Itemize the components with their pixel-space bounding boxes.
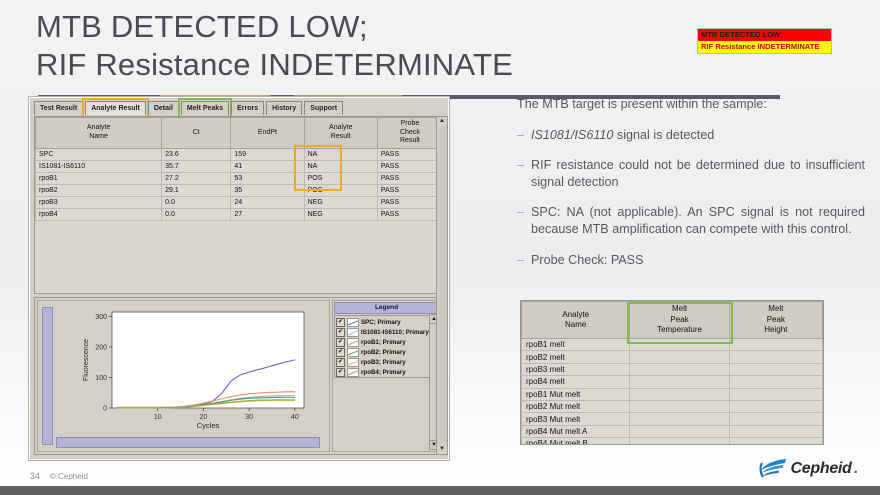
cell-probe-check: PASS	[377, 209, 442, 221]
result-badge: MTB DETECTED LOW; RIF Resistance INDETER…	[697, 28, 832, 54]
bullet-text: SPC: NA (not applicable). An SPC signal …	[531, 204, 865, 237]
list-item[interactable]: ✔ rpoB4; Primary	[336, 367, 438, 377]
tab-test-result-label: Test Result	[40, 105, 77, 112]
melt-peaks-table[interactable]: AnalyteName MeltPeakTemperature MeltPeak…	[520, 300, 824, 445]
analyte-table-header-row: AnalyteName Ct EndPt AnalyteResult Probe…	[36, 118, 443, 149]
legend-color-swatch-icon	[347, 338, 359, 347]
cell-ct: 29.1	[162, 185, 231, 197]
tab-detail-label: Detail	[154, 105, 173, 112]
cell-melt-temp	[630, 339, 729, 351]
bullet-item-is-signal: – IS1081/IS6110 signal is detected	[517, 127, 865, 144]
cell-melt-temp	[630, 413, 729, 425]
legend-checkbox-icon[interactable]: ✔	[336, 338, 345, 347]
cell-melt-temp	[630, 438, 729, 445]
col-header-melt-analyte-name: AnalyteName	[522, 302, 630, 339]
chart-horizontal-scrollbar[interactable]	[56, 437, 320, 448]
tab-errors[interactable]: Errors	[231, 101, 264, 115]
badge-line-mtb: MTB DETECTED LOW;	[698, 29, 831, 41]
page-title: MTB DETECTED LOW; RIF Resistance INDETER…	[36, 8, 596, 84]
cell-analyte-name: SPC	[36, 149, 162, 161]
bullet-italic-term: IS1081/IS6110	[531, 128, 613, 142]
bullet-rest: signal is detected	[613, 128, 714, 142]
table-row[interactable]: rpoB1 melt	[522, 339, 823, 351]
cell-melt-name: rpoB4 Mut melt B	[522, 438, 630, 445]
tab-test-result[interactable]: Test Result	[34, 101, 83, 115]
legend-item-label: rpoB2; Primary	[361, 349, 406, 356]
cell-probe-check: PASS	[377, 173, 442, 185]
slide-canvas: MTB DETECTED LOW; RIF Resistance INDETER…	[0, 0, 880, 495]
cepheid-logo-dot: .	[854, 460, 858, 478]
legend-title: Legend	[334, 302, 439, 314]
bullet-text: IS1081/IS6110 signal is detected	[531, 127, 865, 144]
table-row[interactable]: rpoB3 0.0 24 NEG PASS	[36, 197, 443, 209]
legend-list: ✔ SPC; Primary ✔ IS1081-IS6110; Primary …	[334, 315, 439, 378]
tab-support[interactable]: Support	[304, 101, 343, 115]
cell-melt-name: rpoB1 Mut melt	[522, 388, 630, 400]
table-row[interactable]: rpoB1 Mut melt	[522, 388, 823, 400]
col-header-probe-check: ProbeCheckResult	[377, 118, 442, 149]
cepheid-logo-text: Cepheid	[791, 460, 852, 478]
scroll-down-icon[interactable]: ▼	[437, 445, 447, 454]
tab-support-label: Support	[310, 105, 337, 112]
legend-checkbox-icon[interactable]: ✔	[336, 328, 345, 337]
col-header-analyte-name: AnalyteName	[36, 118, 162, 149]
bullet-dash-icon: –	[517, 127, 524, 144]
svg-text:Fluorescence: Fluorescence	[83, 339, 90, 381]
table-row[interactable]: rpoB2 melt	[522, 351, 823, 363]
col-header-endpt: EndPt	[231, 118, 304, 149]
table-row[interactable]: rpoB4 melt	[522, 376, 823, 388]
table-row[interactable]: rpoB2 Mut melt	[522, 400, 823, 412]
cell-endpt: 53	[231, 173, 304, 185]
bullet-text: RIF resistance could not be determined d…	[531, 157, 865, 190]
melt-table-header-row: AnalyteName MeltPeakTemperature MeltPeak…	[522, 302, 823, 339]
cell-analyte-name: IS1081-IS6110	[36, 161, 162, 173]
bullet-item-spc: – SPC: NA (not applicable). An SPC signa…	[517, 204, 865, 237]
svg-text:20: 20	[200, 414, 208, 421]
cell-melt-temp	[630, 400, 729, 412]
cell-melt-name: rpoB2 melt	[522, 351, 630, 363]
cell-melt-height	[729, 438, 822, 445]
cell-melt-name: rpoB1 melt	[522, 339, 630, 351]
cell-endpt: 24	[231, 197, 304, 209]
title-line-2: RIF Resistance INDETERMINATE	[36, 46, 596, 84]
cell-melt-height	[729, 400, 822, 412]
svg-text:10: 10	[154, 414, 162, 421]
bullet-text: Probe Check: PASS	[531, 252, 865, 269]
cell-ct: 0.0	[162, 197, 231, 209]
tab-history[interactable]: History	[266, 101, 302, 115]
bullet-dash-icon: –	[517, 157, 524, 190]
cell-melt-temp	[630, 425, 729, 437]
cell-analyte-result: POS	[304, 173, 377, 185]
svg-text:40: 40	[291, 414, 299, 421]
col-header-melt-peak-temperature: MeltPeakTemperature	[630, 302, 729, 339]
legend-color-swatch-icon	[347, 318, 359, 327]
legend-checkbox-icon[interactable]: ✔	[336, 358, 345, 367]
cell-melt-height	[729, 388, 822, 400]
lead-paragraph: The MTB target is present within the sam…	[517, 96, 865, 113]
cell-probe-check: PASS	[377, 197, 442, 209]
badge-line-rif: RIF Resistance INDETERMINATE	[698, 41, 831, 53]
cell-melt-temp	[630, 363, 729, 375]
explanation-text: The MTB target is present within the sam…	[517, 96, 865, 282]
cell-analyte-result: NEG	[304, 197, 377, 209]
cell-probe-check: PASS	[377, 161, 442, 173]
cell-analyte-name: rpoB3	[36, 197, 162, 209]
chart-vertical-scrollbar[interactable]	[42, 307, 53, 445]
plot-svg: 010020030010203040CyclesFluorescence	[78, 308, 310, 430]
col-header-ct: Ct	[162, 118, 231, 149]
legend-item-label: SPC; Primary	[361, 319, 401, 326]
table-row[interactable]: rpoB1 27.2 53 POS PASS	[36, 173, 443, 185]
cell-endpt: 35	[231, 185, 304, 197]
cell-analyte-name: rpoB1	[36, 173, 162, 185]
cell-ct: 23.6	[162, 149, 231, 161]
table-row[interactable]: rpoB4 0.0 27 NEG PASS	[36, 209, 443, 221]
legend-item-label: rpoB3; Primary	[361, 359, 406, 366]
legend-item-label: IS1081-IS6110; Primary	[361, 329, 429, 336]
cell-melt-name: rpoB4 melt	[522, 376, 630, 388]
table-row[interactable]: rpoB4 Mut melt A	[522, 425, 823, 437]
tab-history-label: History	[272, 105, 296, 112]
list-item[interactable]: ✔ rpoB2; Primary	[336, 347, 438, 357]
tab-analyte-result[interactable]: Analyte Result	[85, 101, 146, 115]
tab-melt-peaks[interactable]: Melt Peaks	[181, 101, 229, 115]
tab-analyte-result-label: Analyte Result	[91, 105, 140, 112]
cell-endpt: 41	[231, 161, 304, 173]
cell-melt-height	[729, 413, 822, 425]
table-row[interactable]: IS1081-IS6110 35.7 41 NA PASS	[36, 161, 443, 173]
legend-color-swatch-icon	[347, 368, 359, 377]
chart-pane: 010020030010203040CyclesFluorescence	[37, 300, 330, 452]
cell-melt-temp	[630, 376, 729, 388]
legend-checkbox-icon[interactable]: ✔	[336, 368, 345, 377]
scroll-up-icon[interactable]: ▲	[437, 117, 447, 126]
svg-text:100: 100	[95, 375, 107, 382]
cell-analyte-name: rpoB2	[36, 185, 162, 197]
cell-melt-height	[729, 351, 822, 363]
col-header-melt-peak-height: MeltPeakHeight	[729, 302, 822, 339]
cell-melt-name: rpoB4 Mut melt A	[522, 425, 630, 437]
cell-endpt: 159	[231, 149, 304, 161]
legend-item-label: rpoB1; Primary	[361, 339, 406, 346]
cell-ct: 27.2	[162, 173, 231, 185]
svg-text:Cycles: Cycles	[197, 421, 220, 430]
bullet-item-rif-resistance: – RIF resistance could not be determined…	[517, 157, 865, 190]
cell-melt-height	[729, 425, 822, 437]
list-item[interactable]: ✔ rpoB3; Primary	[336, 357, 438, 367]
cell-melt-name: rpoB3 Mut melt	[522, 413, 630, 425]
legend-checkbox-icon[interactable]: ✔	[336, 348, 345, 357]
bullet-item-probe-check: – Probe Check: PASS	[517, 252, 865, 269]
list-item[interactable]: ✔ rpoB1; Primary	[336, 337, 438, 347]
legend-color-swatch-icon	[347, 358, 359, 367]
amplification-chart-panel: 010020030010203040CyclesFluorescence Leg…	[34, 297, 444, 455]
bullet-dash-icon: –	[517, 204, 524, 237]
col-header-analyte-result: AnalyteResult	[304, 118, 377, 149]
cell-melt-temp	[630, 351, 729, 363]
tab-bar: Test Result Analyte Result Detail Melt P…	[34, 101, 343, 115]
table-row[interactable]: SPC 23.6 159 NA PASS	[36, 149, 443, 161]
legend-checkbox-icon[interactable]: ✔	[336, 318, 345, 327]
cell-melt-height	[729, 376, 822, 388]
cell-probe-check: PASS	[377, 185, 442, 197]
cell-analyte-name: rpoB4	[36, 209, 162, 221]
svg-text:0: 0	[103, 406, 107, 413]
cell-analyte-result: POS	[304, 185, 377, 197]
cell-melt-temp	[630, 388, 729, 400]
window-vertical-scrollbar[interactable]: ▲ ▼	[436, 116, 448, 455]
cell-probe-check: PASS	[377, 149, 442, 161]
amplification-plot: 010020030010203040CyclesFluorescence	[78, 308, 310, 430]
page-number: 34	[30, 471, 40, 481]
tab-melt-peaks-label: Melt Peaks	[187, 105, 223, 112]
cepheid-logo: Cepheid .	[759, 457, 858, 481]
table-row[interactable]: rpoB2 29.1 35 POS PASS	[36, 185, 443, 197]
svg-text:200: 200	[95, 345, 107, 352]
tab-errors-label: Errors	[237, 105, 258, 112]
cell-analyte-result: NA	[304, 161, 377, 173]
svg-text:30: 30	[245, 414, 253, 421]
cell-melt-height	[729, 363, 822, 375]
cepheid-swoosh-icon	[759, 457, 789, 481]
cell-melt-height	[729, 339, 822, 351]
cell-analyte-result: NA	[304, 149, 377, 161]
bullet-dash-icon: –	[517, 252, 524, 269]
title-line-1: MTB DETECTED LOW;	[36, 8, 596, 46]
legend-color-swatch-icon	[347, 348, 359, 357]
cell-melt-name: rpoB2 Mut melt	[522, 400, 630, 412]
cell-melt-name: rpoB3 melt	[522, 363, 630, 375]
analyte-result-table[interactable]: AnalyteName Ct EndPt AnalyteResult Probe…	[34, 116, 444, 294]
cell-ct: 35.7	[162, 161, 231, 173]
table-row[interactable]: rpoB3 melt	[522, 363, 823, 375]
cell-ct: 0.0	[162, 209, 231, 221]
legend-item-label: rpoB4; Primary	[361, 369, 406, 376]
tab-detail[interactable]: Detail	[148, 101, 179, 115]
copyright-text: © Cepheid	[50, 472, 88, 481]
table-row[interactable]: rpoB4 Mut melt B	[522, 438, 823, 445]
chart-legend-panel: Legend ✔ SPC; Primary ✔ IS1081-IS6110; P…	[332, 300, 441, 452]
list-item[interactable]: ✔ IS1081-IS6110; Primary	[336, 327, 438, 337]
cell-endpt: 27	[231, 209, 304, 221]
footer-bar	[0, 486, 880, 495]
legend-color-swatch-icon	[347, 328, 359, 337]
svg-text:300: 300	[95, 314, 107, 321]
cell-analyte-result: NEG	[304, 209, 377, 221]
genexpert-software-window: Test Result Analyte Result Detail Melt P…	[28, 96, 450, 461]
list-item[interactable]: ✔ SPC; Primary	[336, 317, 438, 327]
table-row[interactable]: rpoB3 Mut melt	[522, 413, 823, 425]
